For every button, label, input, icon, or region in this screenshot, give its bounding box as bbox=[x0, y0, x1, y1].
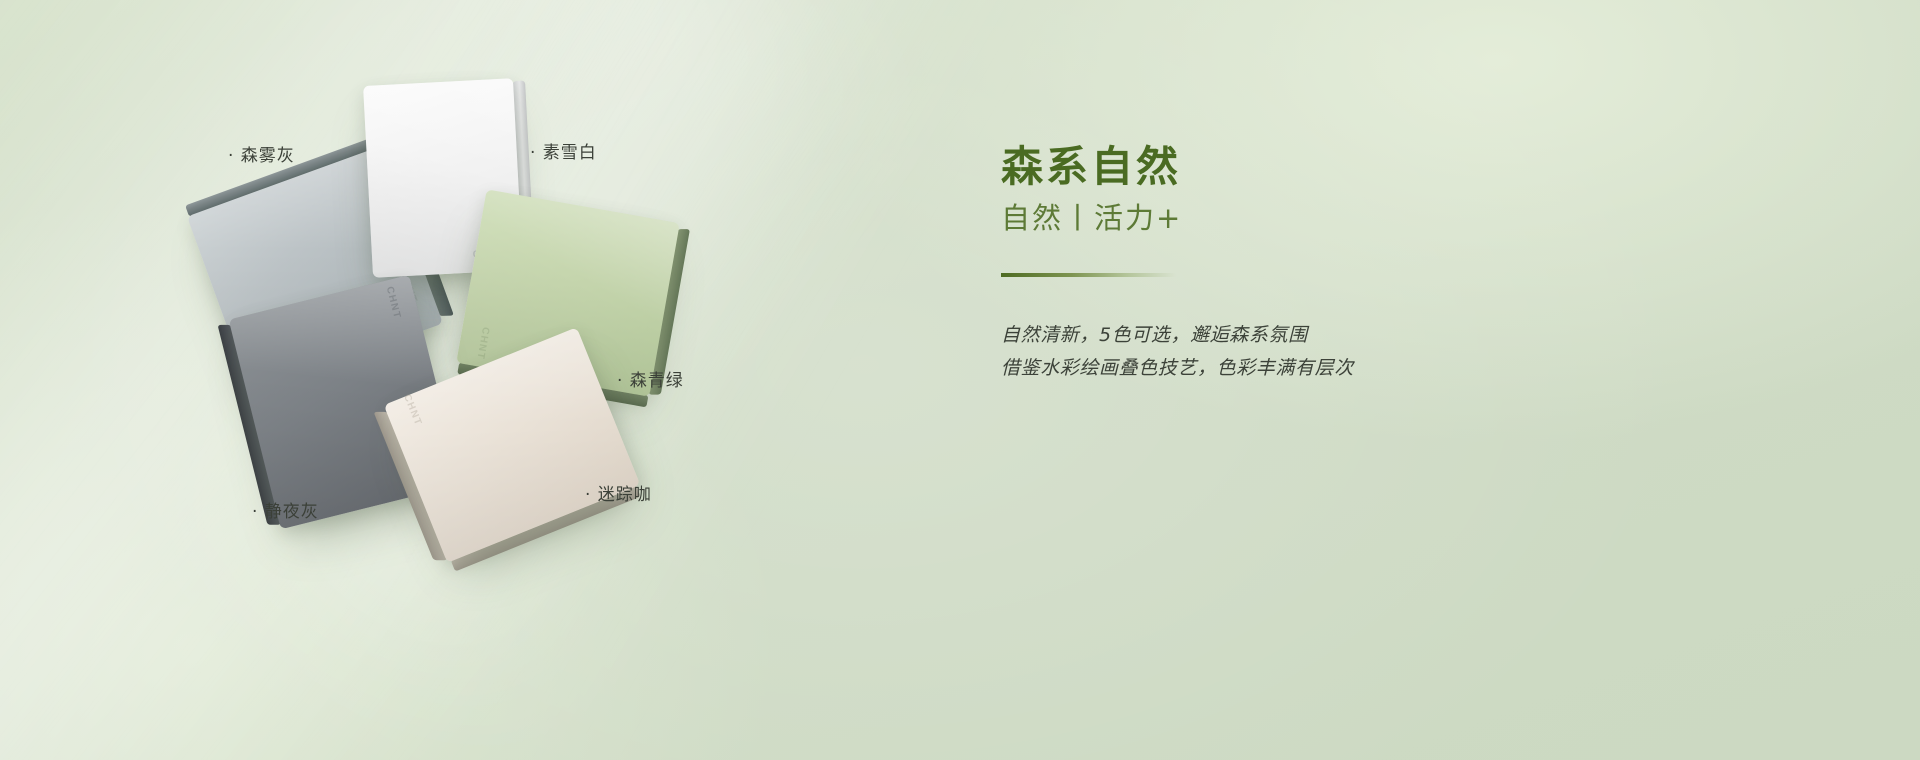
description-block: 自然清新，5色可选，邂逅森系氛围 借鉴水彩绘画叠色技艺，色彩丰满有层次 bbox=[1001, 319, 1561, 384]
swatch-label-jing-ye-hui: · 静夜灰 bbox=[252, 497, 319, 522]
subheadline: 自然丨活力+ bbox=[1001, 204, 1561, 233]
description-line-1: 自然清新，5色可选，邂逅森系氛围 bbox=[1001, 319, 1561, 352]
headline: 森系自然 bbox=[1001, 146, 1561, 188]
swatch-label-su-xue-bai: · 素雪白 bbox=[530, 138, 597, 163]
divider-rule bbox=[1001, 273, 1176, 277]
copy-block: 森系自然 自然丨活力+ 自然清新，5色可选，邂逅森系氛围 借鉴水彩绘画叠色技艺，… bbox=[1001, 146, 1561, 384]
swatch-label-sen-qing-lv: · 森青绿 bbox=[617, 366, 684, 391]
description-line-2: 借鉴水彩绘画叠色技艺，色彩丰满有层次 bbox=[1001, 352, 1561, 385]
product-panel-stack: CHNT CHNT CHNT CHNT CHNT bbox=[0, 0, 1000, 760]
swatch-label-mi-zong-ka: · 迷踪咖 bbox=[585, 480, 652, 505]
swatch-label-sen-wu-hui: · 森雾灰 bbox=[228, 141, 295, 166]
banner-stage: CHNT CHNT CHNT CHNT CHNT · 森雾灰 · 素雪白 · 森… bbox=[0, 0, 1920, 760]
